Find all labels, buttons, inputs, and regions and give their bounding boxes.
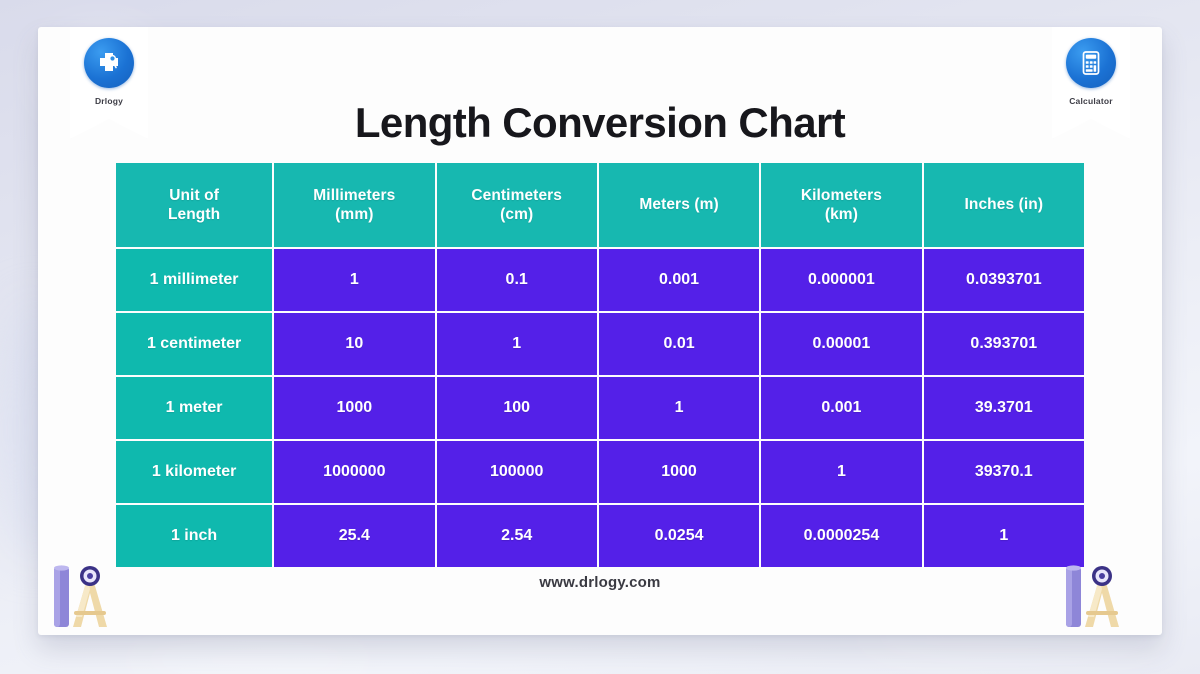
table-cell: 1000000 [274,441,434,503]
length-conversion-table: Unit of Length Millimeters (mm) Centimet… [114,161,1086,569]
table-cell: 1 [437,313,597,375]
page-title: Length Conversion Chart [38,99,1162,147]
background-blob [120,640,380,674]
footer-website-url: www.drlogy.com [38,574,1162,591]
table-cell: 10 [274,313,434,375]
table-cell: 0.001 [761,377,921,439]
table-cell: 0.00001 [761,313,921,375]
table-cell: 100000 [437,441,597,503]
conversion-table-container: Unit of Length Millimeters (mm) Centimet… [114,161,1086,569]
column-header-line: Kilometers [801,187,882,204]
table-cell: 0.0254 [599,505,759,567]
column-header-inches: Inches (in) [924,163,1084,247]
table-cell: 39.3701 [924,377,1084,439]
table-cell: 25.4 [274,505,434,567]
drafting-compass-icon [1058,559,1154,635]
table-row: 1 centimeter 10 1 0.01 0.00001 0.393701 [116,313,1084,375]
chart-card: Drlogy Calculator Length Conversion Char… [38,27,1162,635]
column-header-line: Millimeters [313,187,395,204]
table-cell: 0.1 [437,249,597,311]
medical-cross-icon [84,38,134,88]
table-cell: 1000 [599,441,759,503]
drafting-compass-icon [46,559,142,635]
table-cell: 100 [437,377,597,439]
column-header-line: (km) [825,206,858,223]
column-header-line: Unit of [169,187,219,204]
column-header-meters: Meters (m) [599,163,759,247]
table-cell: 1 [761,441,921,503]
table-cell: 0.0000254 [761,505,921,567]
table-cell: 1 [599,377,759,439]
row-unit-label: 1 inch [116,505,272,567]
table-row: 1 millimeter 1 0.1 0.001 0.000001 0.0393… [116,249,1084,311]
column-header-line: Length [168,206,220,223]
table-cell: 1 [274,249,434,311]
column-header-line: (cm) [500,206,533,223]
table-cell: 0.393701 [924,313,1084,375]
table-header-row: Unit of Length Millimeters (mm) Centimet… [116,163,1084,247]
calculator-icon [1066,38,1116,88]
column-header-line: (mm) [335,206,373,223]
column-header-centimeters: Centimeters (cm) [437,163,597,247]
row-unit-label: 1 meter [116,377,272,439]
column-header-line: Centimeters [471,187,562,204]
column-header-line: Inches (in) [964,196,1043,213]
table-row: 1 inch 25.4 2.54 0.0254 0.0000254 1 [116,505,1084,567]
column-header-kilometers: Kilometers (km) [761,163,921,247]
table-cell: 39370.1 [924,441,1084,503]
column-header-millimeters: Millimeters (mm) [274,163,434,247]
table-cell: 0.0393701 [924,249,1084,311]
table-cell: 0.01 [599,313,759,375]
table-cell: 1 [924,505,1084,567]
table-cell: 0.001 [599,249,759,311]
table-row: 1 kilometer 1000000 100000 1000 1 39370.… [116,441,1084,503]
column-header-line: Meters (m) [639,196,718,213]
row-unit-label: 1 millimeter [116,249,272,311]
row-unit-label: 1 centimeter [116,313,272,375]
table-cell: 1000 [274,377,434,439]
column-header-unit: Unit of Length [116,163,272,247]
table-row: 1 meter 1000 100 1 0.001 39.3701 [116,377,1084,439]
table-cell: 0.000001 [761,249,921,311]
row-unit-label: 1 kilometer [116,441,272,503]
table-cell: 2.54 [437,505,597,567]
